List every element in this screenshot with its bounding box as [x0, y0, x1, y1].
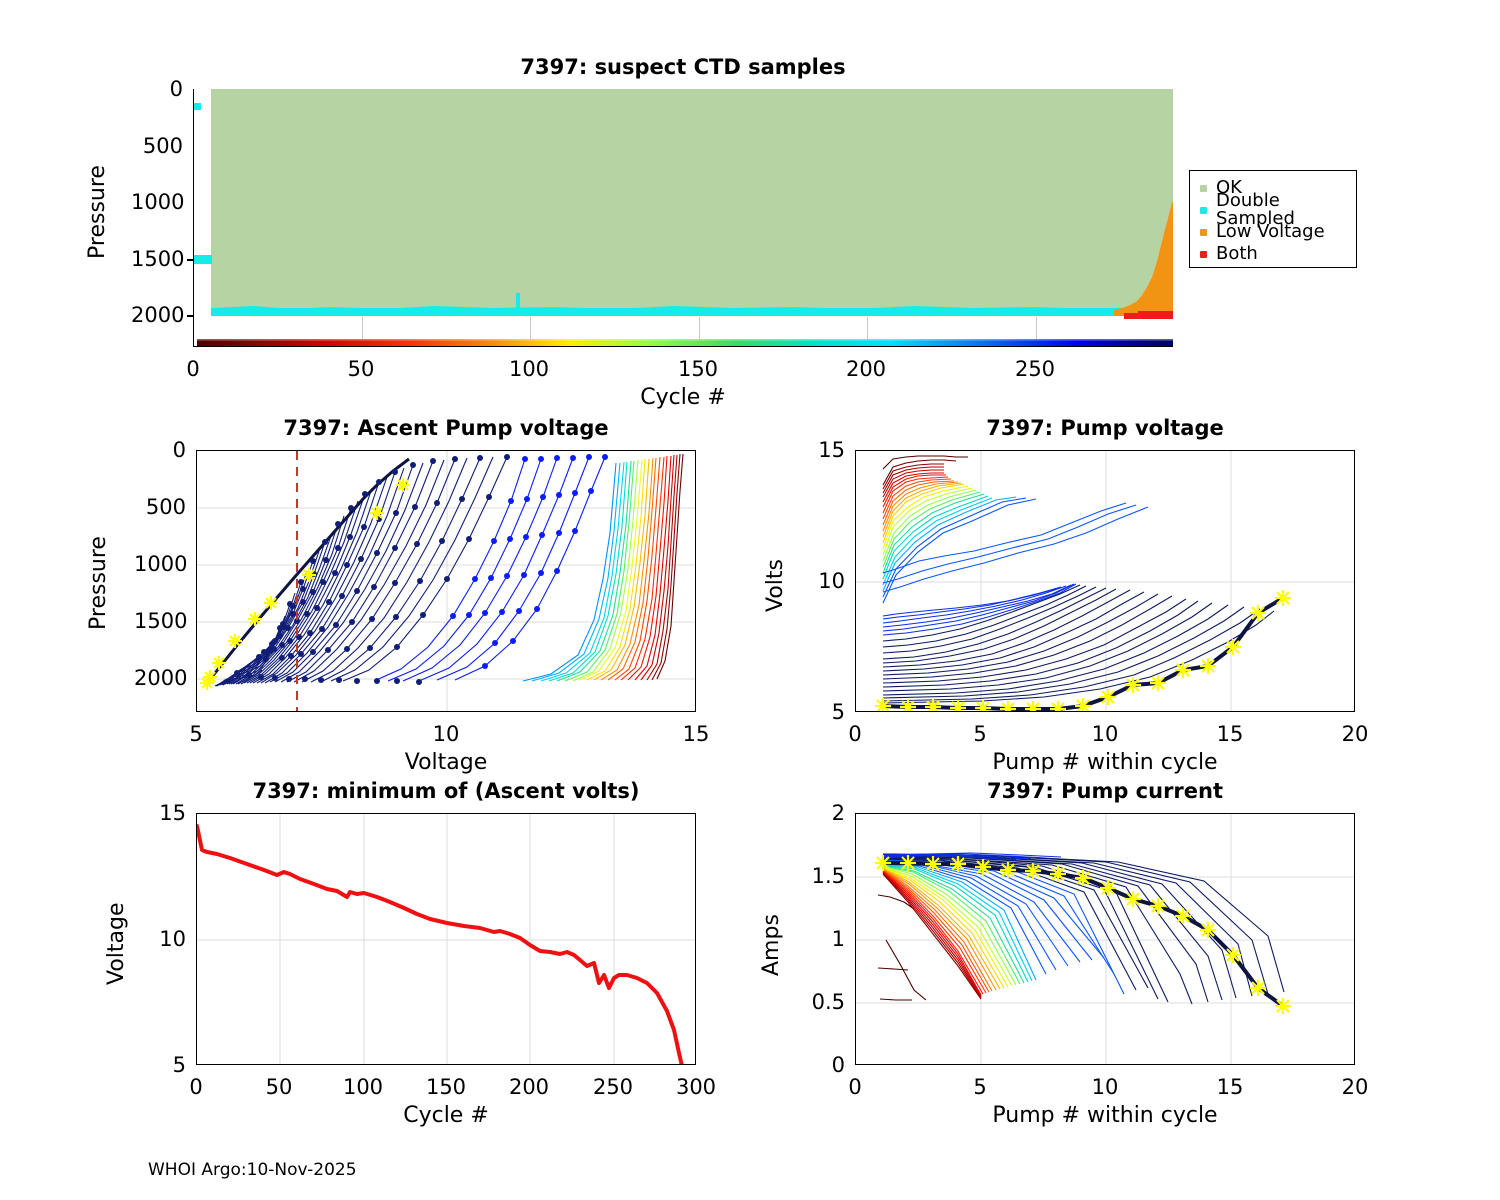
double-sampled-spike — [516, 293, 520, 310]
panel-2-ytick-0: 0 — [134, 438, 186, 462]
panel-2-xtick-10: 10 — [433, 722, 460, 746]
panel-1-xtick-200: 200 — [846, 357, 886, 381]
panel-1-title: 7397: suspect CTD samples — [193, 55, 1173, 79]
panel-2-xtick-5: 5 — [189, 722, 202, 746]
panel-2-xtick-15: 15 — [683, 722, 710, 746]
panel-5-title: 7397: Pump current — [855, 779, 1355, 803]
panel-2-plot — [197, 451, 696, 712]
legend-item-both[interactable]: Both — [1200, 243, 1344, 265]
legend-swatch-both — [1200, 251, 1207, 258]
panel-1-tick-hair-150 — [699, 317, 700, 339]
panel-2-title: 7397: Ascent Pump voltage — [196, 416, 696, 440]
panel-3-axes — [855, 450, 1355, 712]
panel-1-tick-hair-200 — [867, 317, 868, 339]
panel-1-ytick-1000: 1000 — [131, 190, 183, 214]
panel-4-xtick-150: 150 — [426, 1075, 466, 1099]
panel-5-xtick-5: 5 — [973, 1075, 986, 1099]
legend-swatch-double-sampled — [1200, 207, 1207, 214]
panel-2-ytick-500: 500 — [134, 495, 186, 519]
both-band-texture — [1124, 313, 1173, 319]
panel-5-xlabel: Pump # within cycle — [855, 1103, 1355, 1128]
ok-region — [211, 89, 1173, 310]
panel-5-xtick-0: 0 — [848, 1075, 861, 1099]
legend-swatch-ok — [1200, 185, 1207, 192]
panel-4-axes — [196, 813, 696, 1065]
cycle-colorbar-ticks — [197, 339, 1173, 341]
panel-5-gridlines — [856, 814, 1355, 1065]
panel-5-ylabel: Amps — [759, 914, 784, 976]
panel-1-tick-hair-100 — [530, 317, 531, 339]
panel-4-xtick-100: 100 — [343, 1075, 383, 1099]
legend-item-double-sampled[interactable]: Double Sampled — [1200, 199, 1344, 221]
legend-label-both: Both — [1216, 245, 1258, 263]
minimum-ascent-volts-line — [197, 826, 682, 1065]
panel-pump-voltage: 7397: Pump voltage — [855, 450, 1355, 712]
legend-item-low-voltage[interactable]: Low Voltage — [1200, 221, 1344, 243]
panel-1-xtick-150: 150 — [678, 357, 718, 381]
panel-1-axes — [193, 89, 1173, 347]
panel-3-ylabel: Volts — [763, 559, 788, 612]
double-sampled-surface-patch — [194, 103, 201, 110]
panel-1-xtick-0: 0 — [186, 357, 199, 381]
panel-5-xtick-20: 20 — [1342, 1075, 1369, 1099]
panel-1-xtick-50: 50 — [348, 357, 375, 381]
panel-1-ytickmark-1500 — [187, 259, 194, 261]
panel-5-ytick-0p5: 0.5 — [805, 990, 845, 1014]
panel-2-ytick-2000: 2000 — [134, 666, 186, 690]
panel-4-xtick-200: 200 — [509, 1075, 549, 1099]
panel-5-ytick-2: 2 — [805, 801, 845, 825]
panel-5-ytick-1: 1 — [805, 927, 845, 951]
panel-1-ytick-500: 500 — [131, 134, 183, 158]
panel-5-xtick-10: 10 — [1092, 1075, 1119, 1099]
panel-ascent-pump-voltage: 7397: Ascent Pump voltage — [196, 450, 696, 712]
panel-5-axes — [855, 813, 1355, 1065]
panel-pump-current: 7397: Pump current — [855, 813, 1355, 1065]
panel-suspect-ctd-samples: 7397: suspect CTD samples — [193, 89, 1173, 347]
panel-4-ytick-5: 5 — [150, 1053, 186, 1077]
panel-3-ytick-10: 10 — [809, 569, 845, 593]
legend-label-low-voltage: Low Voltage — [1216, 223, 1325, 241]
panel-4-plot — [197, 814, 696, 1065]
panel-3-xtick-10: 10 — [1092, 722, 1119, 746]
panel-1-tick-hair-250 — [1036, 317, 1037, 339]
panel-3-title: 7397: Pump voltage — [855, 416, 1355, 440]
panel-2-ytick-1000: 1000 — [134, 552, 186, 576]
panel-4-xtick-50: 50 — [266, 1075, 293, 1099]
panel-4-xtick-0: 0 — [189, 1075, 202, 1099]
panel-3-ytick-15: 15 — [809, 438, 845, 462]
panel-1-xtick-250: 250 — [1015, 357, 1055, 381]
panel-3-xtick-0: 0 — [848, 722, 861, 746]
panel-1-ytick-0: 0 — [131, 77, 183, 101]
panel-4-xtick-250: 250 — [593, 1075, 633, 1099]
panel-4-xtick-300: 300 — [676, 1075, 716, 1099]
panel-3-xtick-15: 15 — [1217, 722, 1244, 746]
panel-1-xtick-100: 100 — [509, 357, 549, 381]
panel-4-gridlines — [197, 814, 696, 1065]
panel-3-ytick-5: 5 — [809, 700, 845, 724]
panel-3-xlabel: Pump # within cycle — [855, 750, 1355, 775]
panel-minimum-ascent-volts: 7397: minimum of (Ascent volts) 15 10 5 … — [196, 813, 696, 1065]
ascent-profile-traces — [207, 454, 683, 686]
panel-5-ytick-1p5: 1.5 — [805, 864, 845, 888]
ascent-profile-markers — [450, 454, 608, 669]
panel-4-ytick-10: 10 — [150, 927, 186, 951]
panel-5-ytick-0: 0 — [805, 1053, 845, 1077]
panel-5-plot — [856, 814, 1355, 1065]
double-sampled-left-patch — [194, 255, 212, 264]
panel-2-ytick-1500: 1500 — [134, 609, 186, 633]
footer-credit: WHOI Argo:10-Nov-2025 — [148, 1160, 357, 1180]
panel-1-tick-hair-50 — [362, 317, 363, 339]
panel-5-xtick-15: 15 — [1217, 1075, 1244, 1099]
panel-1-ytickmark-2000 — [187, 315, 194, 317]
panel-2-ylabel: Pressure — [86, 536, 111, 630]
panel-1-ytick-2000: 2000 — [131, 303, 183, 327]
legend: OK Double Sampled Low Voltage Both — [1189, 170, 1357, 268]
panel-1-xlabel: Cycle # — [193, 385, 1173, 410]
panel-4-ytick-15: 15 — [150, 801, 186, 825]
panel-4-ylabel: Voltage — [104, 902, 129, 985]
panel-3-xtick-5: 5 — [973, 722, 986, 746]
legend-swatch-low-voltage — [1200, 229, 1207, 236]
panel-1-ylabel: Pressure — [85, 165, 110, 259]
panel-4-title: 7397: minimum of (Ascent volts) — [196, 779, 696, 803]
panel-3-xtick-20: 20 — [1342, 722, 1369, 746]
panel-3-plot — [856, 451, 1355, 712]
panel-1-plot — [194, 89, 1173, 347]
panel-4-xlabel: Cycle # — [196, 1103, 696, 1128]
panel-2-axes — [196, 450, 696, 712]
panel-1-ytick-1500: 1500 — [131, 247, 183, 271]
panel-2-xlabel: Voltage — [196, 750, 696, 775]
